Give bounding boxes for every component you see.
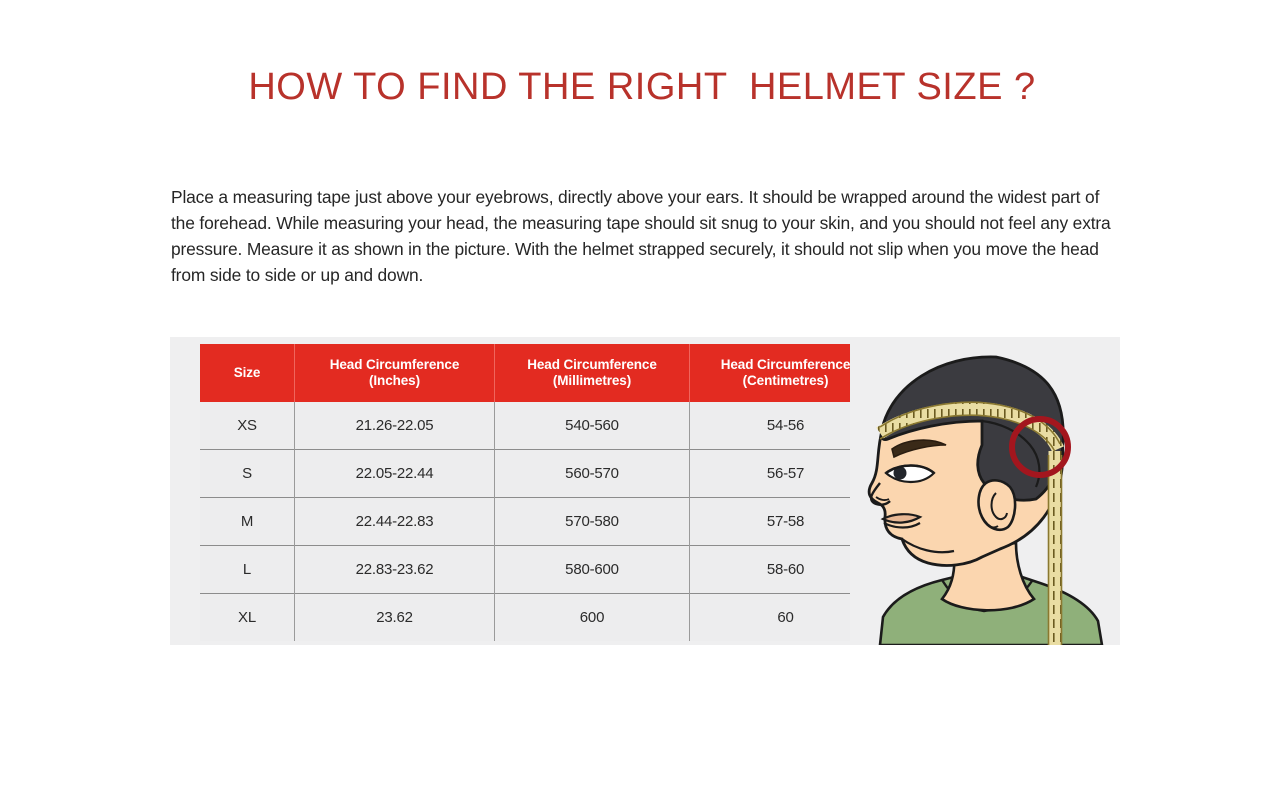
column-header-inches-sub: (Inches): [297, 373, 492, 389]
table-header-row: Size Head Circumference (Inches) Head Ci…: [200, 344, 881, 402]
cell-inches: 21.26-22.05: [295, 402, 495, 450]
table-row: XL 23.62 600 60: [200, 594, 881, 642]
cell-size: XL: [200, 594, 295, 642]
table-row: L 22.83-23.62 580-600 58-60: [200, 546, 881, 594]
column-header-millimetres: Head Circumference (Millimetres): [495, 344, 690, 402]
cell-inches: 22.83-23.62: [295, 546, 495, 594]
cell-size: M: [200, 498, 295, 546]
column-header-centimetres-main: Head Circumference: [721, 357, 851, 372]
table-row: M 22.44-22.83 570-580 57-58: [200, 498, 881, 546]
cell-size: L: [200, 546, 295, 594]
instructions-paragraph: Place a measuring tape just above your e…: [171, 184, 1121, 288]
cell-inches: 23.62: [295, 594, 495, 642]
cell-millimetres: 560-570: [495, 450, 690, 498]
cell-inches: 22.05-22.44: [295, 450, 495, 498]
page-title: HOW TO FIND THE RIGHT HELMET SIZE ?: [0, 66, 1284, 109]
table-row: S 22.05-22.44 560-570 56-57: [200, 450, 881, 498]
cell-size: S: [200, 450, 295, 498]
table-row: XS 21.26-22.05 540-560 54-56: [200, 402, 881, 450]
table-body: XS 21.26-22.05 540-560 54-56 S 22.05-22.…: [200, 402, 881, 641]
helmet-size-table: Size Head Circumference (Inches) Head Ci…: [200, 344, 881, 641]
column-header-inches: Head Circumference (Inches): [295, 344, 495, 402]
cell-millimetres: 540-560: [495, 402, 690, 450]
cell-millimetres: 570-580: [495, 498, 690, 546]
cell-size: XS: [200, 402, 295, 450]
column-header-millimetres-main: Head Circumference: [527, 357, 657, 372]
column-header-size-main: Size: [234, 365, 261, 380]
column-header-size: Size: [200, 344, 295, 402]
helmet-size-guide-page: HOW TO FIND THE RIGHT HELMET SIZE ? Plac…: [0, 0, 1284, 796]
column-header-inches-main: Head Circumference: [330, 357, 460, 372]
table-header: Size Head Circumference (Inches) Head Ci…: [200, 344, 881, 402]
column-header-millimetres-sub: (Millimetres): [497, 373, 687, 389]
cell-millimetres: 600: [495, 594, 690, 642]
head-measuring-tape-illustration: [850, 337, 1120, 645]
size-chart-panel: Size Head Circumference (Inches) Head Ci…: [170, 337, 1120, 645]
head-measuring-illustration-svg: [850, 337, 1120, 645]
cell-millimetres: 580-600: [495, 546, 690, 594]
cell-inches: 22.44-22.83: [295, 498, 495, 546]
